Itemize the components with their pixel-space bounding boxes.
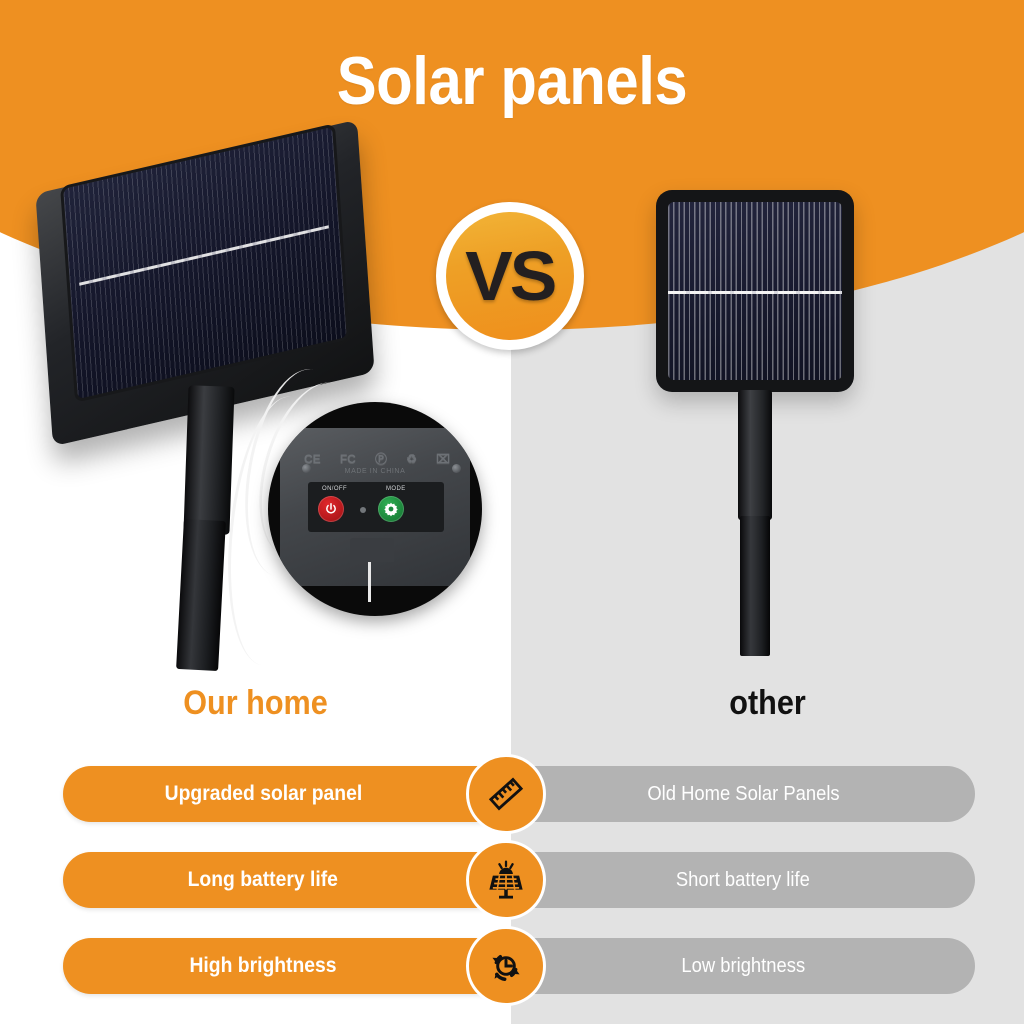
mode-button-label: MODE	[386, 486, 406, 492]
our-feature-pill[interactable]: Upgraded solar panel	[63, 766, 511, 822]
clock-refresh-icon	[466, 926, 546, 1006]
panel-busbar	[668, 291, 842, 294]
gear-icon	[383, 501, 399, 517]
power-button[interactable]	[318, 496, 344, 522]
mode-button[interactable]	[378, 496, 404, 522]
recycle-triangle-icon: ♻	[406, 452, 417, 466]
vs-badge: VS	[436, 202, 584, 350]
page-title: Solar panels	[61, 42, 962, 120]
other-feature-label: Short battery life	[676, 869, 810, 892]
our-feature-label: Upgraded solar panel	[164, 782, 362, 806]
power-icon	[324, 502, 338, 516]
vs-badge-inner: VS	[446, 212, 574, 340]
our-product-image: CE FC Ⓟ ♻ ⌧ MADE IN CHINA ON/OFF MODE	[18, 150, 478, 670]
other-feature-label: Low brightness	[681, 955, 805, 978]
stake-lower-segment	[740, 516, 770, 656]
ruler-icon	[466, 754, 546, 834]
stake-upper-segment	[738, 390, 772, 520]
other-feature-pill[interactable]: Low brightness	[511, 938, 975, 994]
other-feature-label: Old Home Solar Panels	[647, 783, 839, 806]
recycle-mark-icon: Ⓟ	[375, 450, 387, 467]
our-feature-pill[interactable]: Long battery life	[63, 852, 511, 908]
weee-bin-icon: ⌧	[436, 452, 450, 466]
panel-cell-face	[668, 202, 842, 380]
certification-marks: CE FC Ⓟ ♻ ⌧	[304, 450, 450, 467]
panel-frame	[656, 190, 854, 392]
stake-lower-segment	[176, 519, 226, 671]
stake-upper-segment	[183, 385, 234, 535]
comparison-row: Long battery life Short battery life	[0, 852, 1024, 938]
cable-tab	[350, 538, 394, 562]
ce-mark-icon: CE	[304, 452, 321, 466]
other-feature-pill[interactable]: Short battery life	[511, 852, 975, 908]
status-led	[360, 507, 366, 513]
other-heading: other	[537, 684, 999, 723]
vs-label: VS	[465, 236, 554, 316]
our-feature-label: High brightness	[190, 954, 337, 978]
comparison-row: High brightness Low brightness	[0, 938, 1024, 1024]
solar-panel-sun-icon	[466, 840, 546, 920]
infographic-canvas: Solar panels CE FC Ⓟ ♻ ⌧ MADE IN CHIN	[0, 0, 1024, 1024]
made-in-label: MADE IN CHINA	[268, 468, 482, 475]
our-feature-label: Long battery life	[188, 868, 338, 892]
other-product-image	[628, 190, 908, 670]
comparison-row: Upgraded solar panel Old Home Solar Pane…	[0, 766, 1024, 852]
our-home-heading: Our home	[26, 684, 486, 723]
other-feature-pill[interactable]: Old Home Solar Panels	[511, 766, 975, 822]
our-feature-pill[interactable]: High brightness	[63, 938, 511, 994]
screw-icon	[452, 596, 461, 605]
comparison-rows: Upgraded solar panel Old Home Solar Pane…	[0, 766, 1024, 1024]
screw-icon	[302, 596, 311, 605]
control-panel: ON/OFF MODE	[308, 482, 444, 532]
controls-detail-inset: CE FC Ⓟ ♻ ⌧ MADE IN CHINA ON/OFF MODE	[268, 402, 482, 616]
fcc-mark-icon: FC	[340, 452, 356, 466]
cable	[368, 562, 371, 602]
power-button-label: ON/OFF	[322, 486, 347, 492]
